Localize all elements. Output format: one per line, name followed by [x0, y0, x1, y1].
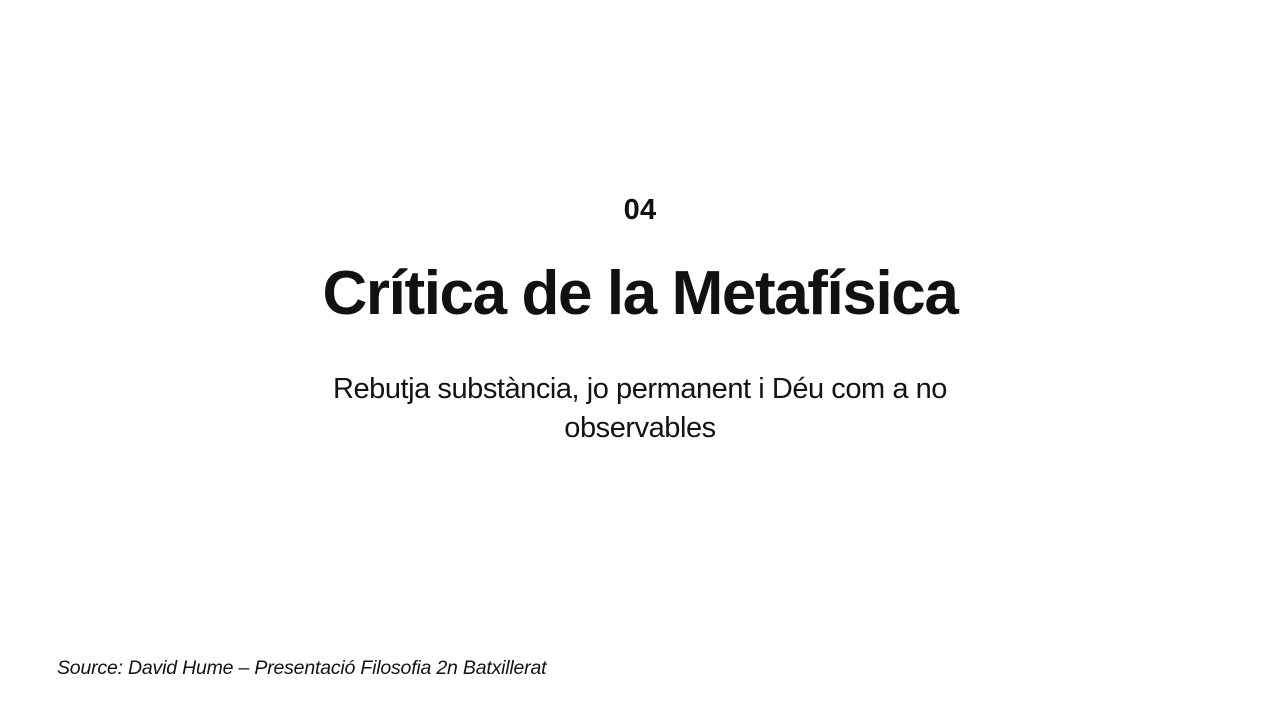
page-title: Crítica de la Metafísica — [0, 261, 1280, 327]
slide-heading-group: 04 Crítica de la Metafísica Rebutja subs… — [0, 196, 1280, 447]
slide-canvas: 04 Crítica de la Metafísica Rebutja subs… — [0, 0, 1280, 720]
slide-subtitle: Rebutja substància, jo permanent i Déu c… — [270, 370, 1010, 448]
section-number: 04 — [0, 196, 1280, 225]
source-attribution: Source: David Hume – Presentació Filosof… — [57, 657, 546, 680]
